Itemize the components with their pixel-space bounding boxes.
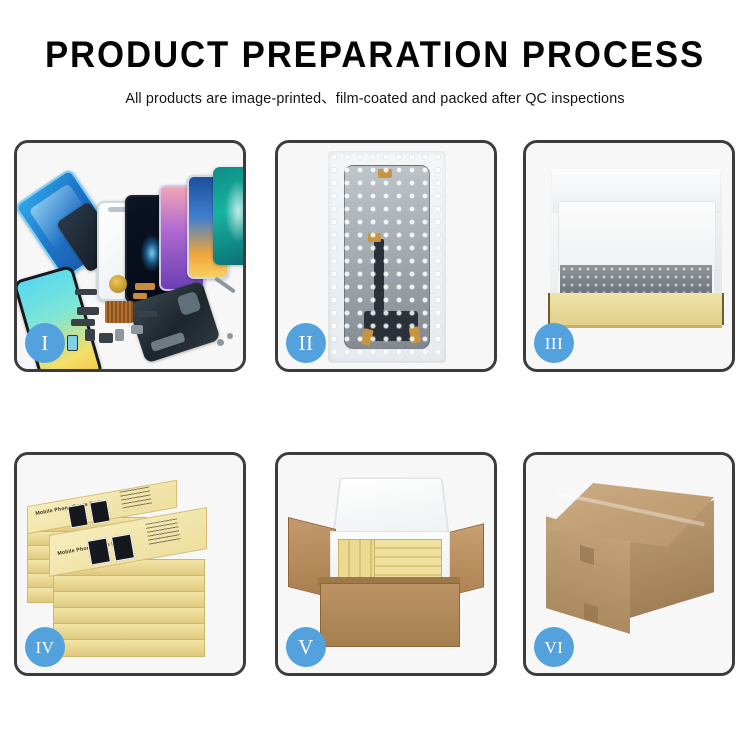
process-step-panel-6: VI (523, 452, 735, 676)
bracket-part (131, 325, 143, 334)
step-6-illustration: VI (526, 455, 732, 673)
tweezers-tool (214, 276, 236, 293)
process-step-panel-3: III (523, 140, 735, 372)
button-part (99, 333, 113, 343)
step-badge-3: III (534, 323, 574, 363)
carton-front-panel-graphic (320, 583, 460, 647)
step-4-illustration: Mobile Phone Spare Parts Mobile Phone Sp… (17, 455, 243, 673)
screw-part-b (227, 333, 233, 339)
screen-flex-cable-graphic (374, 239, 384, 311)
teal-phone-display-graphic (213, 167, 246, 265)
sim-tray-part (115, 329, 124, 341)
flex-cable-part-b (133, 293, 147, 299)
step-2-illustration: II (278, 143, 494, 369)
process-step-panel-5: V (275, 452, 497, 676)
tape-tab-top (378, 169, 392, 178)
step-5-illustration: V (278, 455, 494, 673)
foam-box-lid-graphic (332, 477, 450, 538)
box-front-panel-graphic (550, 293, 722, 328)
step-badge-6: VI (534, 627, 574, 667)
step-badge-1: I (25, 323, 65, 363)
process-step-grid: I II (0, 0, 750, 750)
back-box-photo-a (67, 504, 89, 529)
chip-array-part (105, 301, 133, 323)
grey-foam-padding-graphic (560, 265, 712, 295)
product-preparation-infographic: PRODUCT PREPARATION PROCESS All products… (0, 0, 750, 750)
front-box-photo-b (111, 533, 135, 561)
step-badge-2: II (286, 323, 326, 363)
process-step-panel-4: Mobile Phone Spare Parts Mobile Phone Sp… (14, 452, 246, 676)
antenna-cable-part (137, 311, 157, 317)
mini-display-part (67, 335, 78, 351)
connector-part-a (77, 307, 99, 315)
step-3-illustration: III (526, 143, 732, 369)
flex-cable-part-a (135, 283, 155, 290)
connector-part-b (71, 319, 95, 326)
process-step-panel-1: I (14, 140, 246, 372)
camera-module-part (85, 329, 95, 341)
stacked-box-front-6 (53, 639, 205, 657)
vibration-motor-part (109, 275, 127, 293)
step-badge-5: V (286, 627, 326, 667)
speaker-part (75, 289, 97, 295)
front-box-photo-a (87, 537, 111, 565)
process-step-panel-2: II (275, 140, 497, 372)
step-1-illustration: I (17, 143, 243, 369)
back-box-photo-b (89, 500, 111, 525)
white-foam-sheet-graphic (558, 201, 716, 271)
step-badge-4: IV (25, 627, 65, 667)
screw-part-a (217, 339, 224, 346)
tape-tab-middle (368, 233, 381, 242)
